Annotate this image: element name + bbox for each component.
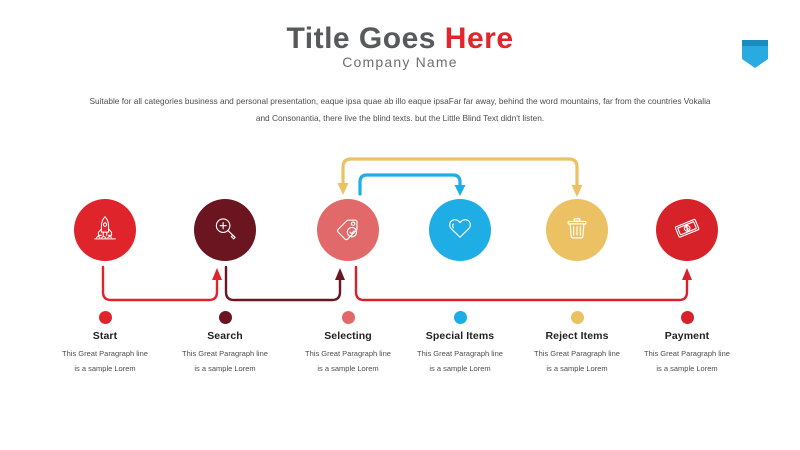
step-desc-special-items: This Great Paragraph line is a sample Lo… xyxy=(394,346,526,376)
heart-icon xyxy=(445,213,475,248)
step-circle-special-items-bg[interactable] xyxy=(429,199,491,261)
step-legend-special-items[interactable]: Special Items This Great Paragraph line … xyxy=(394,311,526,376)
magnifier-plus-icon xyxy=(210,213,240,248)
banknote-icon xyxy=(672,213,702,248)
step-circle-reject-items-bg[interactable] xyxy=(546,199,608,261)
step-desc-line1: This Great Paragraph line xyxy=(39,346,171,361)
step-desc-line1: This Great Paragraph line xyxy=(621,346,753,361)
step-circle-start[interactable] xyxy=(39,199,171,261)
step-dot-start xyxy=(99,311,112,324)
connector-selecting-to-payment xyxy=(356,267,692,300)
rocket-icon xyxy=(90,213,120,248)
step-legend-start[interactable]: Start This Great Paragraph line is a sam… xyxy=(39,311,171,376)
step-desc-line1: This Great Paragraph line xyxy=(394,346,526,361)
step-circle-selecting-bg[interactable] xyxy=(317,199,379,261)
step-label-special-items: Special Items xyxy=(394,330,526,342)
step-circle-payment[interactable] xyxy=(621,199,753,261)
step-dot-search xyxy=(219,311,232,324)
step-circle-start-bg[interactable] xyxy=(74,199,136,261)
step-desc-line2: is a sample Lorem xyxy=(394,361,526,376)
step-circle-payment-bg[interactable] xyxy=(656,199,718,261)
step-dot-reject-items xyxy=(571,311,584,324)
step-desc-payment: This Great Paragraph line is a sample Lo… xyxy=(621,346,753,376)
step-legend-payment[interactable]: Payment This Great Paragraph line is a s… xyxy=(621,311,753,376)
connector-start-to-search xyxy=(103,267,222,300)
step-circle-special-items[interactable] xyxy=(394,199,526,261)
step-dot-special-items xyxy=(454,311,467,324)
step-desc-search: This Great Paragraph line is a sample Lo… xyxy=(159,346,291,376)
step-desc-line2: is a sample Lorem xyxy=(621,361,753,376)
step-legend-search[interactable]: Search This Great Paragraph line is a sa… xyxy=(159,311,291,376)
step-desc-line2: is a sample Lorem xyxy=(39,361,171,376)
step-circle-row xyxy=(0,199,800,263)
step-desc-line2: is a sample Lorem xyxy=(159,361,291,376)
process-flow-diagram: Start This Great Paragraph line is a sam… xyxy=(0,0,800,450)
step-circle-search[interactable] xyxy=(159,199,291,261)
step-dot-payment xyxy=(681,311,694,324)
step-circle-search-bg[interactable] xyxy=(194,199,256,261)
step-label-payment: Payment xyxy=(621,330,753,342)
connector-search-to-selecting xyxy=(226,267,345,300)
step-desc-line1: This Great Paragraph line xyxy=(159,346,291,361)
step-dot-selecting xyxy=(342,311,355,324)
step-label-start: Start xyxy=(39,330,171,342)
step-label-search: Search xyxy=(159,330,291,342)
trash-icon xyxy=(562,213,592,248)
tag-check-icon xyxy=(333,213,363,248)
connector-selecting-to-special-items xyxy=(360,175,466,196)
step-desc-start: This Great Paragraph line is a sample Lo… xyxy=(39,346,171,376)
